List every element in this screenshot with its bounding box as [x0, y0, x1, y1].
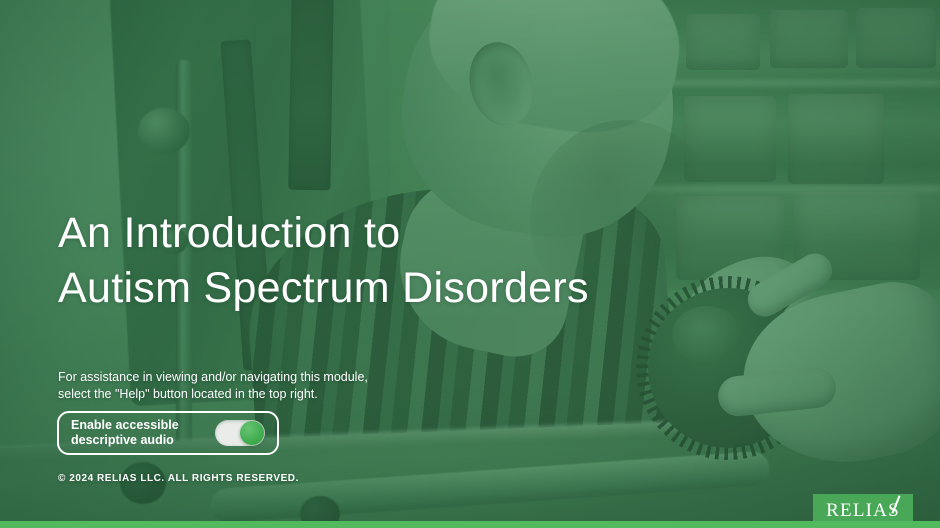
audio-toggle-knob[interactable]	[240, 421, 264, 445]
copyright-notice: © 2024 RELIAS LLC. ALL RIGHTS RESERVED.	[58, 473, 299, 484]
accessible-audio-toggle[interactable]: Enable accessible descriptive audio	[57, 411, 279, 455]
title-slide: An Introduction to Autism Spectrum Disor…	[0, 0, 940, 528]
relias-logo-text: RELIAS	[826, 501, 900, 521]
audio-toggle-switch[interactable]	[215, 420, 265, 446]
slide-content: An Introduction to Autism Spectrum Disor…	[0, 0, 940, 528]
bottom-accent-bar	[0, 521, 940, 528]
page-title: An Introduction to Autism Spectrum Disor…	[58, 206, 589, 316]
accessible-audio-label: Enable accessible descriptive audio	[71, 418, 205, 448]
assistance-instructions: For assistance in viewing and/or navigat…	[58, 369, 368, 403]
